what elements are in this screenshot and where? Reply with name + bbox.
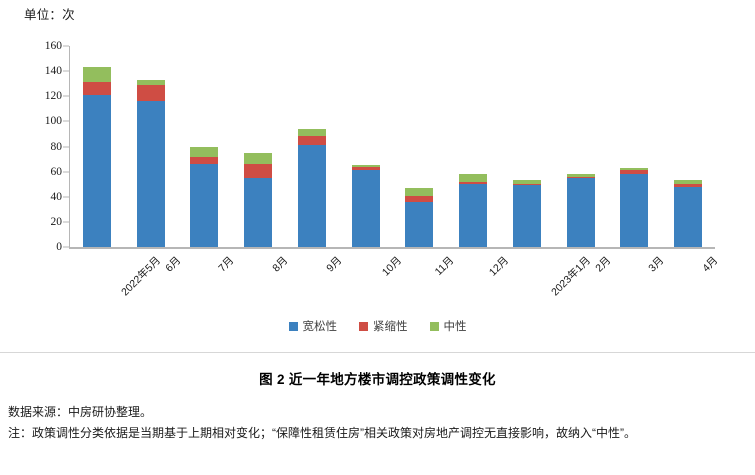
x-axis-tick-label: 4月	[699, 253, 721, 275]
bar-stack[interactable]	[674, 180, 702, 247]
bar-stack[interactable]	[567, 174, 595, 247]
bar-stack[interactable]	[352, 165, 380, 247]
bar-stack[interactable]	[244, 153, 272, 247]
y-axis-tick-label: 160	[45, 40, 62, 52]
bar-segment-neutral[interactable]	[244, 153, 272, 164]
bar-stack[interactable]	[459, 174, 487, 247]
bar-segment-tight[interactable]	[137, 85, 165, 101]
bar-slot[interactable]	[500, 46, 554, 247]
bar-stack[interactable]	[190, 147, 218, 247]
bar-segment-neutral[interactable]	[459, 174, 487, 182]
x-axis-tick-label: 6月	[161, 253, 183, 275]
bar-slot[interactable]	[339, 46, 393, 247]
bar-slot[interactable]	[124, 46, 178, 247]
legend-label: 紧缩性	[373, 318, 408, 334]
x-axis-tick-label: 10月	[378, 253, 404, 279]
x-axis-tick-label: 3月	[645, 253, 667, 275]
legend-swatch-icon	[430, 322, 439, 331]
legend-label: 宽松性	[303, 318, 338, 334]
bar-segment-tight[interactable]	[298, 136, 326, 145]
bar-slot[interactable]	[554, 46, 608, 247]
bar-stack[interactable]	[83, 67, 111, 247]
bar-segment-neutral[interactable]	[190, 147, 218, 157]
chart-plot-area: 160140120100806040200 2022年5月6月7月8月9月10月…	[0, 46, 755, 261]
legend-label: 中性	[444, 318, 467, 334]
y-axis-tick-label: 20	[51, 216, 63, 228]
bar-segment-loose[interactable]	[674, 187, 702, 247]
bar-segment-neutral[interactable]	[298, 129, 326, 137]
bar-segment-loose[interactable]	[137, 101, 165, 247]
bar-slot[interactable]	[661, 46, 715, 247]
figure-title: 图 2 近一年地方楼市调控政策调性变化	[0, 368, 755, 388]
bar-segment-loose[interactable]	[459, 184, 487, 247]
bar-segment-tight[interactable]	[244, 164, 272, 178]
bar-segment-loose[interactable]	[244, 178, 272, 247]
bar-slot[interactable]	[608, 46, 662, 247]
bars-container	[70, 46, 715, 247]
x-axis-tick-label: 8月	[269, 253, 291, 275]
footer-notes: 数据来源：中房研协整理。 注：政策调性分类依据是当期基于上期相对变化；“保障性租…	[8, 402, 748, 444]
x-axis-tick-label: 12月	[486, 253, 512, 279]
y-axis-tick-label: 40	[51, 191, 63, 203]
y-axis-tick-label: 0	[56, 241, 62, 253]
unit-label: 单位：次	[24, 4, 75, 23]
bar-segment-loose[interactable]	[513, 185, 541, 247]
bar-segment-neutral[interactable]	[83, 67, 111, 82]
bar-slot[interactable]	[285, 46, 339, 247]
x-axis-tick-label: 7月	[215, 253, 237, 275]
x-axis-tick-label: 11月	[432, 253, 458, 279]
bar-stack[interactable]	[405, 188, 433, 247]
x-axis-tick-label: 2022年5月	[118, 253, 164, 299]
y-axis-tick-label: 80	[51, 141, 63, 153]
bar-stack[interactable]	[298, 129, 326, 247]
y-axis-tick-label: 140	[45, 65, 62, 77]
x-axis-tick-label: 2023年1月	[548, 253, 594, 299]
y-axis-tick-label: 100	[45, 115, 62, 127]
bar-slot[interactable]	[393, 46, 447, 247]
legend-swatch-icon	[359, 322, 368, 331]
bar-stack[interactable]	[620, 168, 648, 247]
bar-slot[interactable]	[70, 46, 124, 247]
section-divider	[0, 352, 755, 353]
legend-swatch-icon	[289, 322, 298, 331]
legend-item[interactable]: 紧缩性	[359, 318, 408, 334]
bar-stack[interactable]	[513, 180, 541, 247]
bar-segment-loose[interactable]	[405, 202, 433, 247]
bar-segment-neutral[interactable]	[405, 188, 433, 196]
legend-item[interactable]: 宽松性	[289, 318, 338, 334]
data-source-text: 数据来源：中房研协整理。	[8, 402, 748, 423]
bar-segment-loose[interactable]	[620, 174, 648, 247]
bar-segment-loose[interactable]	[567, 178, 595, 247]
bar-segment-tight[interactable]	[190, 157, 218, 165]
chart-legend: 宽松性紧缩性中性	[0, 318, 755, 334]
bar-slot[interactable]	[178, 46, 232, 247]
note-text: 注：政策调性分类依据是当期基于上期相对变化；“保障性租赁住房”相关政策对房地产调…	[8, 423, 748, 444]
y-axis-tick-label: 60	[51, 166, 63, 178]
bar-segment-loose[interactable]	[298, 145, 326, 247]
bar-segment-tight[interactable]	[83, 82, 111, 95]
y-axis-tick-label: 120	[45, 90, 62, 102]
bar-slot[interactable]	[231, 46, 285, 247]
y-axis: 160140120100806040200	[0, 46, 78, 257]
bar-segment-loose[interactable]	[352, 170, 380, 247]
x-axis-tick-label: 9月	[323, 253, 345, 275]
x-axis-line	[69, 247, 715, 249]
bar-stack[interactable]	[137, 80, 165, 247]
bar-segment-loose[interactable]	[83, 95, 111, 247]
bar-slot[interactable]	[446, 46, 500, 247]
x-axis-tick-label: 2月	[591, 253, 613, 275]
bar-segment-loose[interactable]	[190, 164, 218, 247]
legend-item[interactable]: 中性	[430, 318, 467, 334]
x-axis-labels: 2022年5月6月7月8月9月10月11月12月2023年1月2月3月4月	[70, 251, 715, 307]
